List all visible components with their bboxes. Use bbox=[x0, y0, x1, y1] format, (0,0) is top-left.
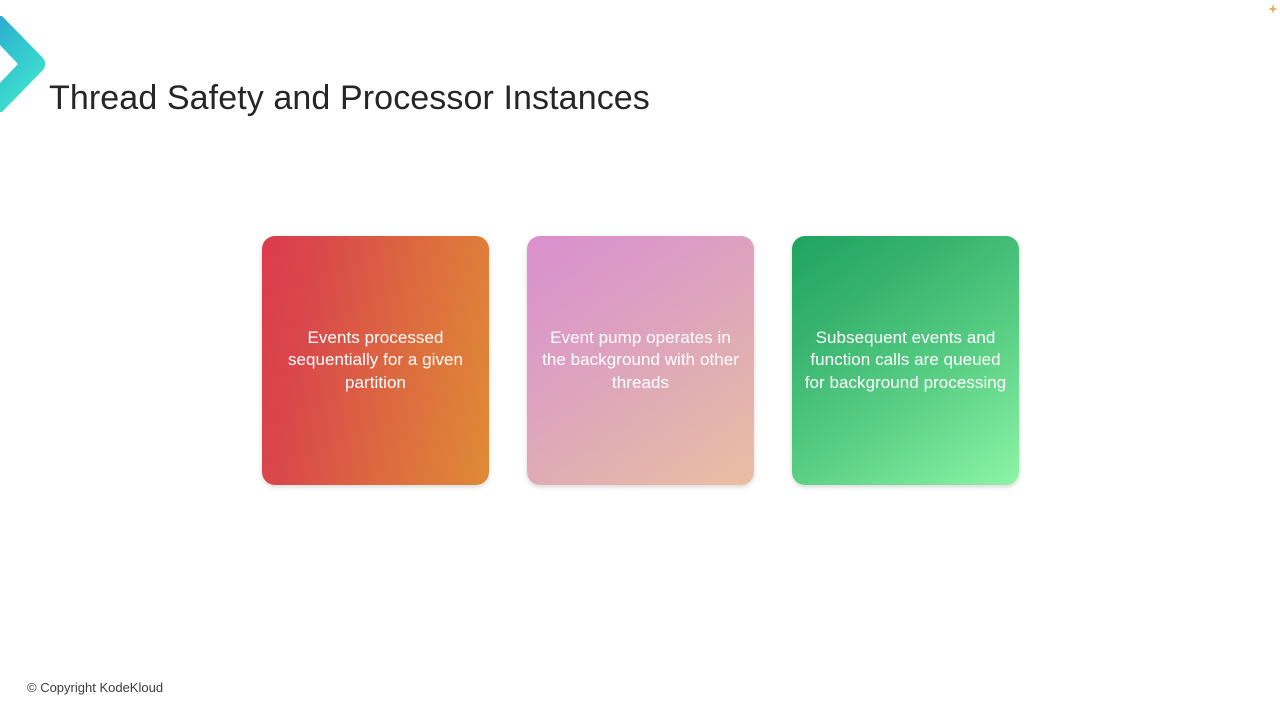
gold-sparkle-icon bbox=[1268, 1, 1278, 11]
concept-cards-row: Events processed sequentially for a give… bbox=[262, 236, 1018, 485]
concept-card-event-pump[interactable]: Event pump operates in the background wi… bbox=[527, 236, 754, 485]
concept-card-queued-events[interactable]: Subsequent events and function calls are… bbox=[792, 236, 1019, 485]
concept-card-label: Subsequent events and function calls are… bbox=[802, 327, 1009, 395]
slide-canvas: Thread Safety and Processor Instances Ev… bbox=[0, 0, 1280, 720]
concept-card-label: Events processed sequentially for a give… bbox=[273, 327, 478, 395]
chevron-logo-icon bbox=[0, 14, 48, 114]
concept-card-label: Event pump operates in the background wi… bbox=[538, 327, 743, 395]
page-title: Thread Safety and Processor Instances bbox=[49, 74, 650, 123]
concept-card-sequential-processing[interactable]: Events processed sequentially for a give… bbox=[262, 236, 489, 485]
footer-copyright: © Copyright KodeKloud bbox=[27, 679, 163, 697]
